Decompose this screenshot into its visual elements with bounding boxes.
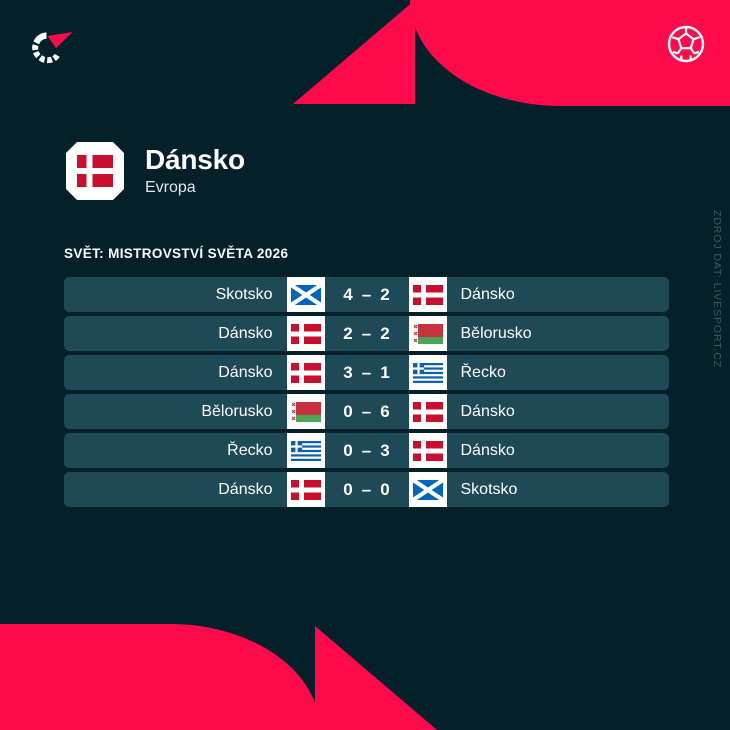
away-team-name: Bělorusko [447, 316, 670, 351]
livesport-logo [26, 24, 78, 70]
match-row[interactable]: Skotsko 4 – 2 Dánsko [64, 277, 669, 312]
match-row[interactable]: Dánsko 0 – 0 Skotsko [64, 472, 669, 507]
away-score: 2 [380, 324, 389, 344]
score-separator: – [362, 285, 371, 305]
greece-flag-icon [409, 355, 447, 390]
source-watermark: ZDROJ DAT: LIVESPORT.CZ [711, 199, 723, 379]
home-team-name: Skotsko [64, 277, 287, 312]
score-separator: – [362, 480, 371, 500]
belarus-flag-icon [409, 316, 447, 351]
decoration-bottom-left-red [0, 624, 320, 730]
football-icon [664, 22, 708, 66]
score: 2 – 2 [325, 316, 409, 351]
away-team-name: Dánsko [447, 433, 670, 468]
competition-label: SVĚT: MISTROVSTVÍ SVĚTA 2026 [64, 246, 288, 261]
home-score: 0 [343, 441, 352, 461]
score: 0 – 0 [325, 472, 409, 507]
denmark-flag-icon [409, 277, 447, 312]
denmark-flag-icon [287, 355, 325, 390]
score: 3 – 1 [325, 355, 409, 390]
away-score: 2 [380, 285, 389, 305]
denmark-flag-badge [64, 140, 126, 202]
infographic-canvas: Dánsko Evropa SVĚT: MISTROVSTVÍ SVĚTA 20… [0, 0, 730, 730]
denmark-flag-icon [287, 472, 325, 507]
score: 0 – 3 [325, 433, 409, 468]
match-list: Skotsko 4 – 2 Dánsko Dánsko 2 – 2 [64, 277, 669, 507]
score-separator: – [362, 363, 371, 383]
score-separator: – [362, 324, 371, 344]
match-row[interactable]: Bělorusko 0 – 6 Dánsko [64, 394, 669, 429]
home-score: 0 [343, 480, 352, 500]
match-row[interactable]: Řecko 0 – 3 Dánsko [64, 433, 669, 468]
home-score: 4 [343, 285, 352, 305]
denmark-flag-icon [409, 433, 447, 468]
scotland-flag-icon [287, 277, 325, 312]
match-row[interactable]: Dánsko 2 – 2 Bělorusko [64, 316, 669, 351]
decoration-top-right-wedge [293, 0, 415, 104]
score: 0 – 6 [325, 394, 409, 429]
home-score: 0 [343, 402, 352, 422]
away-score: 0 [380, 480, 389, 500]
home-team-name: Dánsko [64, 355, 287, 390]
away-team-name: Dánsko [447, 394, 670, 429]
denmark-flag-icon [409, 394, 447, 429]
home-team-name: Dánsko [64, 316, 287, 351]
match-row[interactable]: Dánsko 3 – 1 Řecko [64, 355, 669, 390]
belarus-flag-icon [287, 394, 325, 429]
away-team-name: Skotsko [447, 472, 670, 507]
away-team-name: Řecko [447, 355, 670, 390]
team-region-label: Evropa [145, 178, 245, 197]
score-separator: – [362, 402, 371, 422]
score: 4 – 2 [325, 277, 409, 312]
decoration-bottom-left-wedge [315, 626, 437, 730]
score-separator: – [362, 441, 371, 461]
denmark-flag-icon [287, 316, 325, 351]
away-team-name: Dánsko [447, 277, 670, 312]
away-score: 1 [380, 363, 389, 383]
home-team-name: Bělorusko [64, 394, 287, 429]
home-team-name: Dánsko [64, 472, 287, 507]
scotland-flag-icon [409, 472, 447, 507]
home-team-name: Řecko [64, 433, 287, 468]
home-score: 2 [343, 324, 352, 344]
team-header: Dánsko Evropa [64, 140, 245, 202]
home-score: 3 [343, 363, 352, 383]
greece-flag-icon [287, 433, 325, 468]
page-title: Dánsko [145, 145, 245, 176]
away-score: 3 [380, 441, 389, 461]
away-score: 6 [380, 402, 389, 422]
